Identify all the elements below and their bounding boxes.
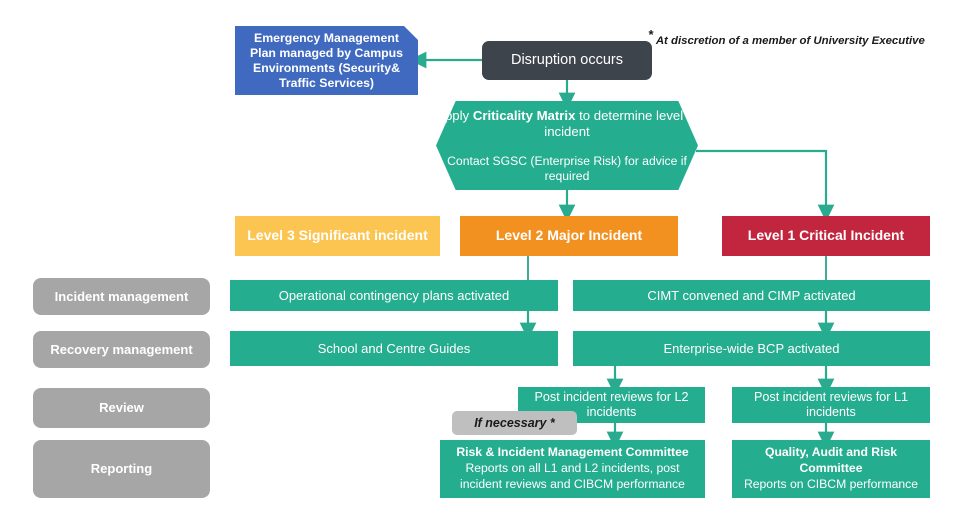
swimlane-label-incident-management: Incident management: [33, 278, 210, 315]
if-necessary-pill: If necessary *: [452, 411, 577, 435]
level-3-label: Level 3 Significant incident: [235, 227, 440, 244]
level-3-significant-incident-box[interactable]: Level 3 Significant incident: [235, 216, 440, 256]
if-necessary-label: If necessary *: [474, 416, 555, 430]
level-1-label: Level 1 Critical Incident: [722, 227, 930, 244]
level-2-label: Level 2 Major Incident: [460, 227, 678, 244]
swimlane-label-review: Review: [33, 388, 210, 428]
enterprise-wide-bcp-label: Enterprise-wide BCP activated: [573, 341, 930, 357]
cimt-convened-box[interactable]: CIMT convened and CIMP activated: [573, 280, 930, 311]
wire-hexagon-to-level1: [696, 151, 826, 213]
rimc-body: Reports on all L1 and L2 incidents, post…: [440, 461, 705, 493]
post-incident-reviews-l1-label: Post incident reviews for L1 incidents: [732, 390, 930, 421]
swimlane-label-recovery-management: Recovery management: [33, 331, 210, 368]
level-1-critical-incident-box[interactable]: Level 1 Critical Incident: [722, 216, 930, 256]
qarc-body: Reports on CIBCM performance: [732, 477, 930, 493]
operational-contingency-plans-label: Operational contingency plans activated: [230, 288, 558, 304]
emergency-management-plan-label: Emergency Management Plan managed by Cam…: [235, 31, 418, 91]
criticality-matrix-line2: Contact SGSC (Enterprise Risk) for advic…: [436, 154, 698, 184]
qarc-title: Quality, Audit and Risk Committee: [732, 445, 930, 477]
risk-incident-management-committee-box[interactable]: Risk & Incident Management Committee Rep…: [440, 440, 705, 498]
enterprise-wide-bcp-box[interactable]: Enterprise-wide BCP activated: [573, 331, 930, 366]
level-2-major-incident-box[interactable]: Level 2 Major Incident: [460, 216, 678, 256]
disruption-occurs-label: Disruption occurs: [482, 52, 652, 70]
criticality-matrix-emphasis: Criticality Matrix: [473, 108, 576, 123]
operational-contingency-plans-box[interactable]: Operational contingency plans activated: [230, 280, 558, 311]
rimc-title: Risk & Incident Management Committee: [456, 445, 688, 461]
swimlane-label-reporting: Reporting: [33, 440, 210, 498]
criticality-matrix-hexagon[interactable]: Apply Criticality Matrix to determine le…: [436, 101, 698, 190]
swimlane-reporting-text: Reporting: [33, 461, 210, 477]
criticality-matrix-line1: Apply Criticality Matrix to determine le…: [436, 108, 698, 140]
disruption-occurs-box[interactable]: Disruption occurs: [482, 41, 652, 80]
quality-audit-risk-committee-box[interactable]: Quality, Audit and Risk Committee Report…: [732, 440, 930, 498]
school-and-centre-guides-label: School and Centre Guides: [230, 341, 558, 357]
swimlane-recovery-management-text: Recovery management: [33, 342, 210, 358]
school-and-centre-guides-box[interactable]: School and Centre Guides: [230, 331, 558, 366]
swimlane-review-text: Review: [33, 400, 210, 416]
swimlane-incident-management-text: Incident management: [33, 289, 210, 305]
flowchart-canvas: * At discretion of a member of Universit…: [0, 0, 966, 517]
cimt-convened-label: CIMT convened and CIMP activated: [573, 288, 930, 304]
post-incident-reviews-l1-box[interactable]: Post incident reviews for L1 incidents: [732, 387, 930, 423]
emergency-management-plan-box[interactable]: Emergency Management Plan managed by Cam…: [235, 26, 418, 95]
